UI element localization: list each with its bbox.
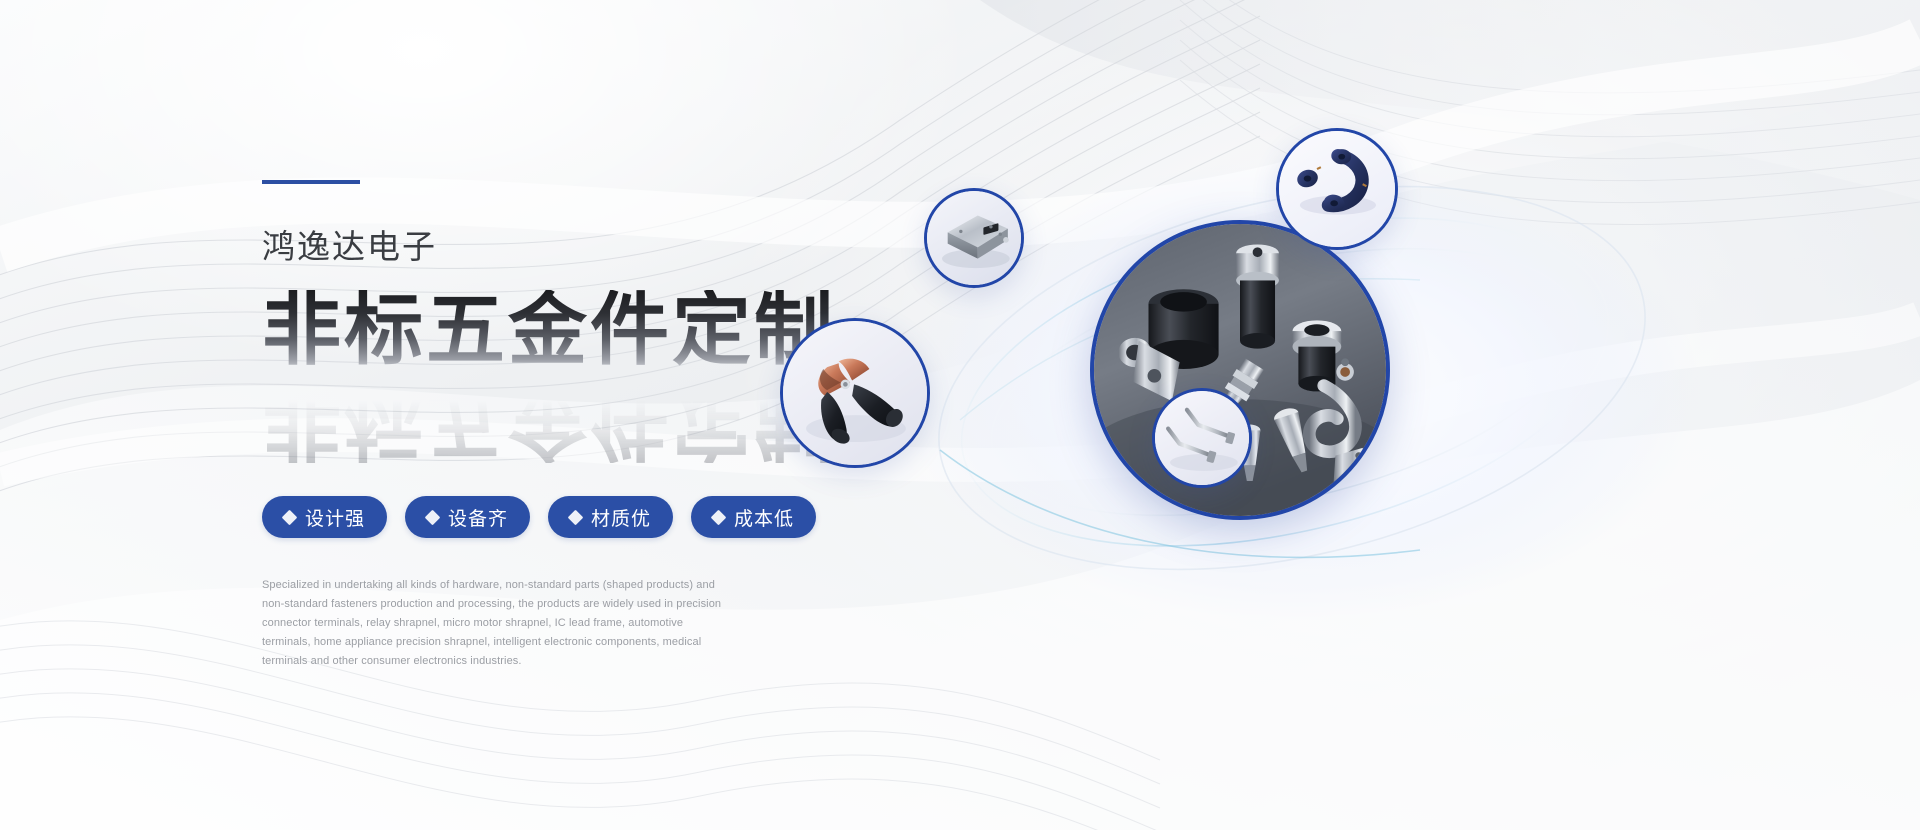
feature-badge-material[interactable]: 材质优 [548,496,673,538]
product-showcase [900,120,1780,640]
feature-badge-label: 材质优 [591,504,651,531]
product-node-ring[interactable] [1276,128,1398,250]
diamond-icon [282,509,298,525]
stamped-metal-enclosure-image [927,191,1021,285]
feature-badge-design[interactable]: 设计强 [262,496,387,538]
feature-badge-cost[interactable]: 成本低 [691,496,816,538]
diamond-icon [711,509,727,525]
diamond-icon [425,509,441,525]
retaining-ring-image [1279,131,1395,247]
accent-bar [262,180,360,184]
copper-battery-clamp-image [783,321,927,465]
terminal-pins-image [1155,391,1249,485]
product-node-box[interactable] [924,188,1024,288]
product-node-clip[interactable] [780,318,930,468]
feature-badge-list: 设计强 设备齐 材质优 成本低 [262,496,902,538]
diamond-icon [568,509,584,525]
brand-name: 鸿逸达电子 [262,220,902,268]
feature-badge-label: 成本低 [734,504,794,531]
feature-badge-label: 设备齐 [448,504,508,531]
company-description: Specialized in undertaking all kinds of … [262,576,732,671]
feature-badge-equipment[interactable]: 设备齐 [405,496,530,538]
feature-badge-label: 设计强 [305,504,365,531]
product-node-pins[interactable] [1152,388,1252,488]
hero-banner: 鸿逸达电子 非标五金件定制 非标五金件定制 设计强 设备齐 材质优 成本低 [0,0,1920,830]
headline-reflection: 非标五金件定制 [262,384,836,463]
